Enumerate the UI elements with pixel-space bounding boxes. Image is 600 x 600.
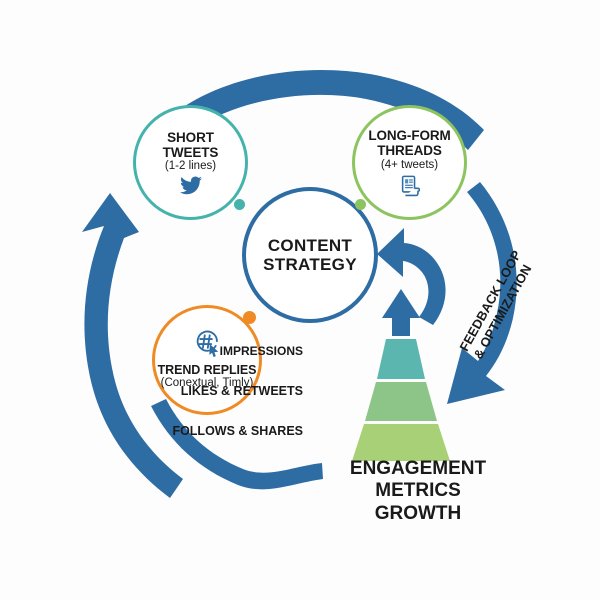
connector-dot-short-tweets [234,199,245,210]
node-long-form-subtitle: (4+ tweets) [381,159,438,172]
scroll-document-icon [399,175,420,197]
node-short-tweets[interactable]: SHORT TWEETS (1-2 lines) [133,105,248,220]
node-short-tweets-title: SHORT TWEETS [163,130,219,160]
pyramid-label-impressions: IMPRESSIONS [178,344,303,358]
engagement-metrics-growth-caption: ENGAGEMENT METRICS GROWTH [328,458,508,525]
connector-dot-trend-replies [243,311,256,324]
diagram-canvas: SHORT TWEETS (1-2 lines) LONG-FORM THREA… [0,0,600,600]
node-trend-replies-title: TREND REPLIES [158,363,257,377]
pyramid-label-follows-shares: FOLLOWS & SHARES [148,424,303,438]
node-content-strategy-title: CONTENT STRATEGY [263,236,357,274]
node-short-tweets-subtitle: (1-2 lines) [165,160,216,173]
pyramid-arrow [382,289,420,336]
caption-line-2: METRICS [375,480,461,501]
pyramid-level-3 [352,424,450,461]
node-long-form-title: LONG-FORM THREADS [368,128,450,158]
caption-line-3: GROWTH [375,503,462,524]
pyramid-level-2 [365,382,437,421]
twitter-bird-icon [180,176,202,195]
pyramid-label-likes-retweets: LIKES & RETWEETS [158,384,303,398]
node-long-form-threads[interactable]: LONG-FORM THREADS (4+ tweets) [352,105,467,220]
connector-dot-long-form [355,199,366,210]
caption-line-1: ENGAGEMENT [350,458,486,479]
pyramid-level-1 [377,339,425,379]
